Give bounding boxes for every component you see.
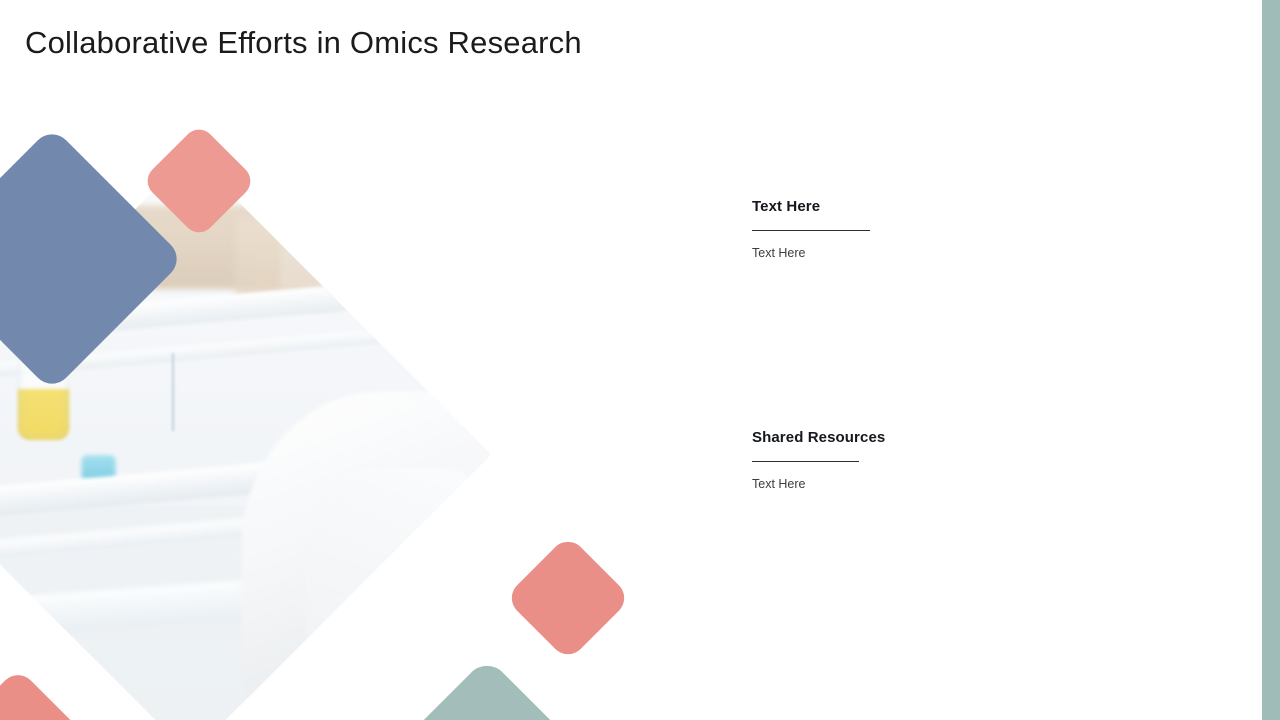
slide-canvas: Collaborative Efforts in Omics Research <box>0 0 1280 720</box>
salmon-diamond-bottom-left <box>0 668 94 720</box>
page-title: Collaborative Efforts in Omics Research <box>25 25 582 61</box>
scientist-blue-glove <box>298 672 408 720</box>
text-block-1-heading: Text Here <box>752 198 870 215</box>
text-block-2-divider <box>752 461 859 462</box>
text-block-2: Shared Resources Text Here <box>752 429 885 491</box>
salmon-diamond-right <box>504 534 631 661</box>
right-edge-bar <box>1262 0 1280 720</box>
text-block-2-body: Text Here <box>752 477 885 491</box>
scientist-blue-glove-second <box>279 716 351 720</box>
text-block-2-heading: Shared Resources <box>752 429 885 446</box>
text-block-1-divider <box>752 230 870 231</box>
teal-diamond-bottom <box>384 657 590 720</box>
text-block-1: Text Here Text Here <box>752 198 870 260</box>
text-block-1-body: Text Here <box>752 246 870 260</box>
